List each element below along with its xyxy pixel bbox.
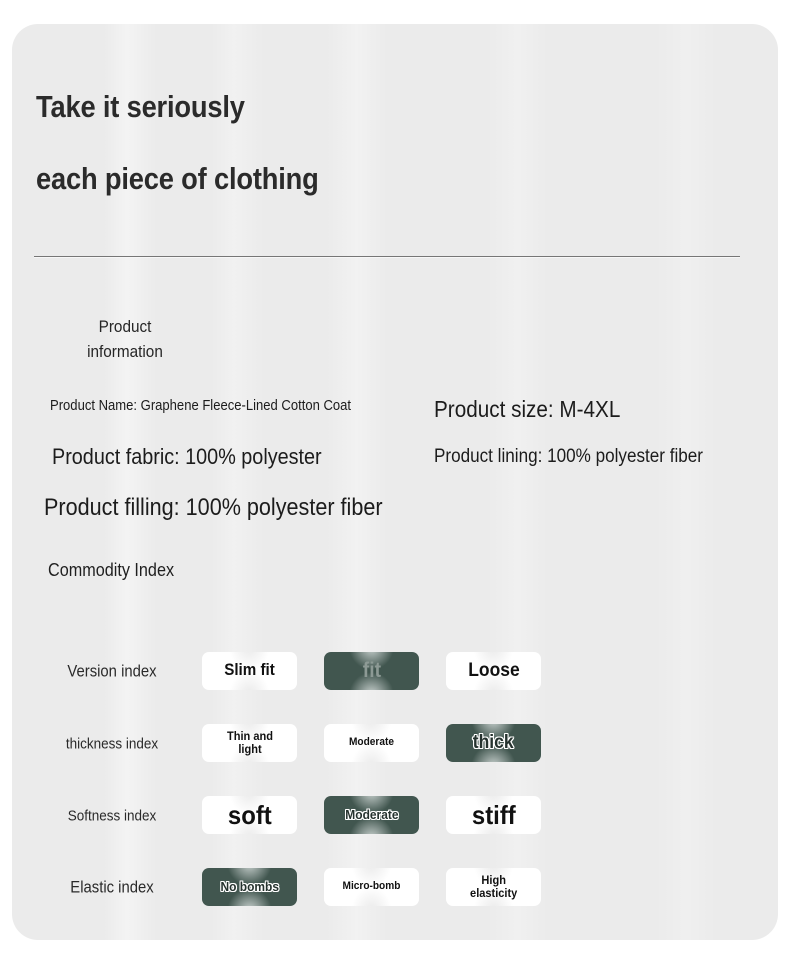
section-divider — [34, 256, 740, 257]
index-option-moderate[interactable]: Moderate — [324, 796, 419, 834]
product-filling-text: Product filling: 100% polyester fiber — [44, 494, 383, 522]
index-option-label: Loose — [468, 661, 519, 682]
index-row-version: Version index Slim fit fit Loose — [12, 636, 778, 708]
product-detail-card: Take it seriously each piece of clothing… — [12, 24, 778, 940]
headline-line-1: Take it seriously — [36, 89, 245, 125]
commodity-index-title: Commodity Index — [48, 560, 174, 581]
index-option-thick[interactable]: thick — [446, 724, 541, 762]
index-row-label: thickness index — [22, 736, 202, 753]
index-option-label: stiff — [472, 801, 516, 829]
index-row-thickness: thickness index Thin and light Moderate … — [12, 708, 778, 780]
index-row-label: Elastic index — [22, 879, 202, 898]
index-option-label: Moderate — [349, 737, 394, 749]
index-option-label: Micro-bomb — [343, 881, 401, 893]
product-information-title: Product information — [70, 314, 180, 364]
index-option-micro-bomb[interactable]: Micro-bomb — [324, 868, 419, 906]
index-option-label: fit — [362, 660, 380, 683]
index-row-label: Version index — [22, 663, 202, 682]
index-option-moderate[interactable]: Moderate — [324, 724, 419, 762]
index-option-loose[interactable]: Loose — [446, 652, 541, 690]
index-option-label: soft — [228, 801, 272, 829]
index-option-group: Thin and light Moderate thick — [202, 724, 562, 764]
index-row-elastic: Elastic index No bombs Micro-bomb High e… — [12, 852, 778, 924]
index-option-label: Moderate — [345, 808, 398, 822]
index-option-no-bombs[interactable]: No bombs — [202, 868, 297, 906]
index-option-group: Slim fit fit Loose — [202, 652, 562, 692]
product-lining-text: Product lining: 100% polyester fiber — [434, 446, 703, 468]
headline-line-2: each piece of clothing — [36, 161, 319, 197]
index-option-label: Thin and light — [227, 730, 273, 756]
index-option-group: No bombs Micro-bomb High elasticity — [202, 868, 562, 908]
index-row-label: Softness index — [22, 808, 202, 825]
product-fabric-text: Product fabric: 100% polyester — [52, 444, 322, 470]
index-option-fit[interactable]: fit — [324, 652, 419, 690]
index-option-label: No bombs — [220, 880, 278, 894]
index-option-label: Slim fit — [224, 662, 275, 680]
index-option-thin-and-light[interactable]: Thin and light — [202, 724, 297, 762]
index-option-soft[interactable]: soft — [202, 796, 297, 834]
product-size-text: Product size: M-4XL — [434, 396, 620, 423]
index-option-group: soft Moderate stiff — [202, 796, 562, 836]
index-option-label: High elasticity — [470, 874, 517, 900]
commodity-index-table: Version index Slim fit fit Loose thickne… — [12, 636, 778, 924]
index-row-softness: Softness index soft Moderate stiff — [12, 780, 778, 852]
index-option-high-elasticity[interactable]: High elasticity — [446, 868, 541, 906]
index-option-slim-fit[interactable]: Slim fit — [202, 652, 297, 690]
product-name-text: Product Name: Graphene Fleece-Lined Cott… — [50, 398, 351, 414]
index-option-label: thick — [473, 733, 514, 754]
index-option-stiff[interactable]: stiff — [446, 796, 541, 834]
